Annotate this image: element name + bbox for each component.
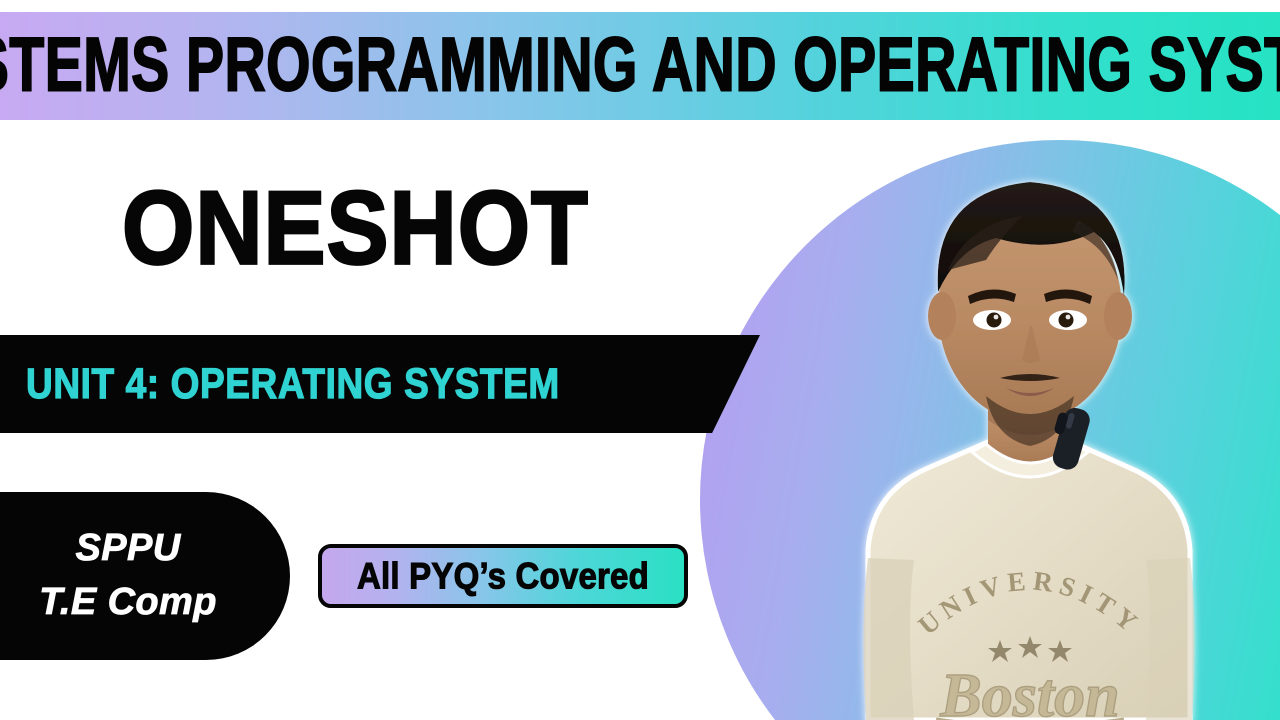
unit-banner: UNIT 4: OPERATING SYSTEM <box>0 335 760 433</box>
presenter-photo: UNIVERSITY Boston <box>700 120 1280 720</box>
header-title: SYSTEMS PROGRAMMING AND OPERATING SYSTEM <box>0 28 1280 104</box>
presenter-figure: UNIVERSITY Boston <box>700 120 1280 720</box>
page-title-oneshot: ONESHOT <box>122 176 589 280</box>
pyq-covered-badge: All PYQ’s Covered <box>318 544 688 608</box>
sppu-badge: SPPU T.E Comp <box>0 492 290 660</box>
svg-text:Boston: Boston <box>939 662 1119 720</box>
header-banner: SYSTEMS PROGRAMMING AND OPERATING SYSTEM <box>0 12 1280 120</box>
thumbnail-canvas: UNIVERSITY Boston SYSTEMS PROGRAMMING AN… <box>0 0 1280 720</box>
sppu-badge-line1: SPPU <box>75 522 180 576</box>
unit-banner-label: UNIT 4: OPERATING SYSTEM <box>26 360 560 409</box>
sppu-badge-line2: T.E Comp <box>39 576 217 630</box>
pyq-covered-label: All PYQ’s Covered <box>357 555 649 598</box>
